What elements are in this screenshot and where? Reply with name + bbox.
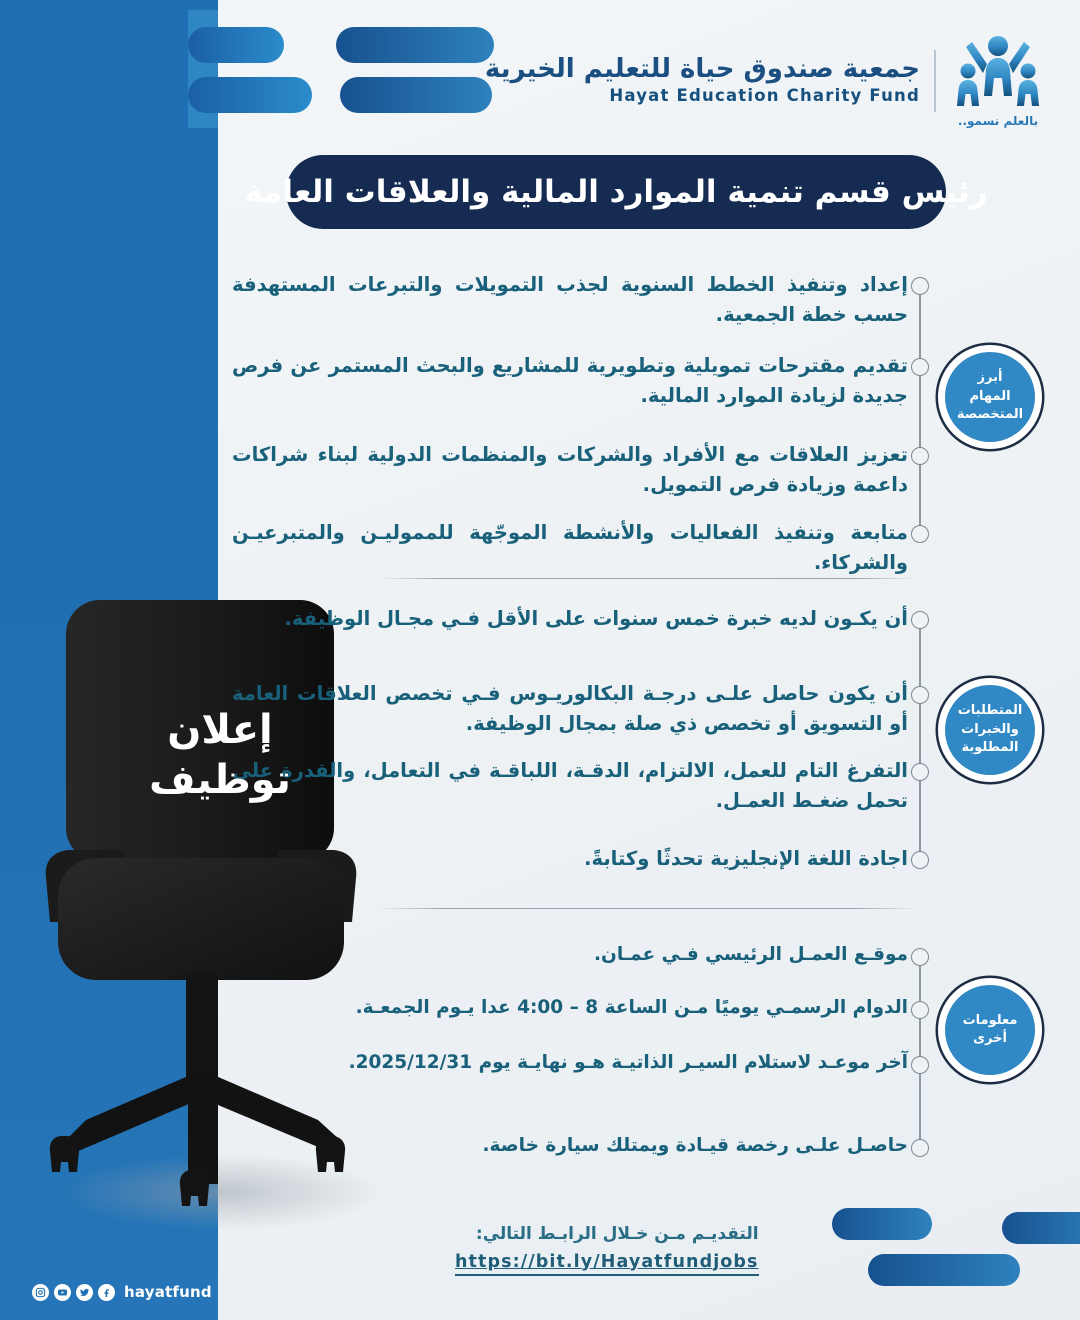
logo-divider: [934, 50, 936, 112]
brand-name-arabic: جمعية صندوق حياة للتعليم الخيرية: [485, 55, 920, 85]
bullet-item: إعداد وتنفيذ الخطط السنوية لجذب التمويلا…: [228, 270, 908, 330]
timeline-rail-section-2: [919, 620, 921, 860]
brand-tagline: بالعلم نسمو..: [950, 114, 1046, 128]
instagram-icon[interactable]: [32, 1284, 49, 1301]
apply-link[interactable]: https://bit.ly/Hayatfundjobs: [455, 1252, 759, 1276]
decorative-pill-a: [188, 27, 284, 63]
apply-instruction: التقديـم مـن خـلال الرابـط التالي:: [455, 1222, 759, 1248]
timeline-node: [911, 1001, 929, 1019]
section-divider-1: [378, 578, 918, 579]
badge-label: المتطلبات والخبرات المطلوبة: [950, 702, 1031, 757]
timeline-node: [911, 851, 929, 869]
bullet-item: الدوام الرسمـي يوميًا مـن الساعة 8 – 4:0…: [228, 994, 908, 1023]
bullet-item: اجادة اللغة الإنجليزية تحدثًا وكتابةً.: [228, 844, 908, 874]
section-badge-other-info: معلومات أخرى: [938, 978, 1042, 1082]
facebook-icon[interactable]: [98, 1284, 115, 1301]
bullet-item: التفرغ التام للعمل، الالتزام، الدقـة، ال…: [228, 756, 908, 816]
chair-overlay-text: إعلان توظيف: [120, 705, 320, 805]
bullet-item: أن يكون حاصل علـى درجـة البكالوريـوس فـي…: [228, 679, 908, 739]
decorative-pill-f: [1002, 1212, 1080, 1244]
bullet-item: متابعة وتنفيذ الفعاليات والأنشطة الموجّه…: [228, 518, 908, 578]
brand-logo: جمعية صندوق حياة للتعليم الخيرية Hayat E…: [485, 34, 1046, 128]
timeline-node: [911, 525, 929, 543]
badge-label: معلومات أخرى: [955, 1012, 1026, 1049]
decorative-pill-c: [336, 27, 494, 63]
decorative-pill-e: [832, 1208, 932, 1240]
timeline-node: [911, 277, 929, 295]
job-title-banner: رئيس قسم تنمية الموارد المالية والعلاقات…: [286, 155, 946, 229]
timeline-node: [911, 763, 929, 781]
bullet-item: آخر موعـد لاستلام السيـر الذاتيـة هـو نه…: [228, 1049, 908, 1078]
badge-label: أبرز المهام المتخصصة: [949, 369, 1031, 424]
bullet-item: تعزيز العلاقات مع الأفراد والشركات والمن…: [228, 440, 908, 500]
timeline-rail-section-3: [919, 957, 921, 1148]
overlay-line-2: توظيف: [120, 755, 320, 805]
timeline-node: [911, 611, 929, 629]
timeline-node: [911, 447, 929, 465]
timeline-node: [911, 686, 929, 704]
brand-name-english: Hayat Education Charity Fund: [485, 85, 920, 106]
page-title: رئيس قسم تنمية الموارد المالية والعلاقات…: [244, 174, 987, 210]
brand-logo-text: جمعية صندوق حياة للتعليم الخيرية Hayat E…: [485, 55, 920, 106]
bullet-item: موقـع العمـل الرئيسي فـي عمـان.: [228, 941, 908, 970]
decorative-pill-g: [868, 1254, 1020, 1286]
timeline-node: [911, 1139, 929, 1157]
logo-mark: بالعلم نسمو..: [950, 34, 1046, 128]
social-bar: hayatfund: [0, 1264, 218, 1320]
overlay-line-1: إعلان: [120, 705, 320, 755]
section-divider-2: [378, 908, 918, 909]
poster-canvas: جمعية صندوق حياة للتعليم الخيرية Hayat E…: [0, 0, 1080, 1320]
people-rising-icon: [950, 34, 1046, 108]
bullet-item: حاصـل علـى رخصة قيـادة ويمتلك سيارة خاصة…: [228, 1132, 908, 1161]
decorative-pill-d: [340, 77, 492, 113]
apply-block: التقديـم مـن خـلال الرابـط التالي: https…: [455, 1222, 759, 1276]
timeline-node: [911, 1056, 929, 1074]
timeline-rail-section-1: [919, 286, 921, 534]
bullet-item: تقديم مقترحات تمويلية وتطويرية للمشاريع …: [228, 351, 908, 411]
timeline-node: [911, 948, 929, 966]
timeline-node: [911, 358, 929, 376]
decorative-pill-b: [188, 77, 312, 113]
bullet-item: أن يكـون لديه خبرة خمس سنوات على الأقل ف…: [228, 604, 908, 634]
section-badge-main-tasks: أبرز المهام المتخصصة: [938, 345, 1042, 449]
social-handle: hayatfund: [124, 1283, 212, 1301]
twitter-icon[interactable]: [76, 1284, 93, 1301]
youtube-icon[interactable]: [54, 1284, 71, 1301]
section-badge-requirements: المتطلبات والخبرات المطلوبة: [938, 678, 1042, 782]
